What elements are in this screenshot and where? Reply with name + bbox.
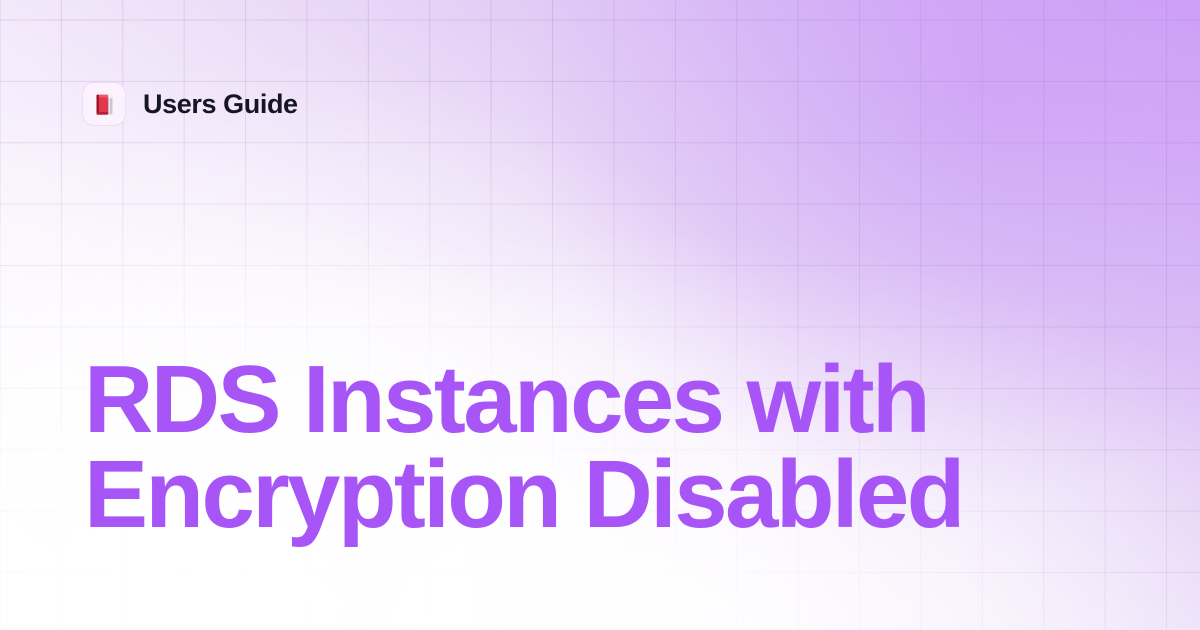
- brand-row: Users Guide: [82, 82, 298, 126]
- closed-book-icon: [91, 91, 118, 118]
- card-content: Users Guide RDS Instances with Encryptio…: [0, 0, 1200, 630]
- brand-label: Users Guide: [143, 91, 298, 118]
- page-title-line-2: Encryption Disabled: [84, 447, 1084, 542]
- page-title: RDS Instances with Encryption Disabled: [84, 352, 1084, 542]
- social-card: Users Guide RDS Instances with Encryptio…: [0, 0, 1200, 630]
- page-title-line-1: RDS Instances with: [84, 352, 1084, 447]
- brand-icon-badge: [82, 82, 126, 126]
